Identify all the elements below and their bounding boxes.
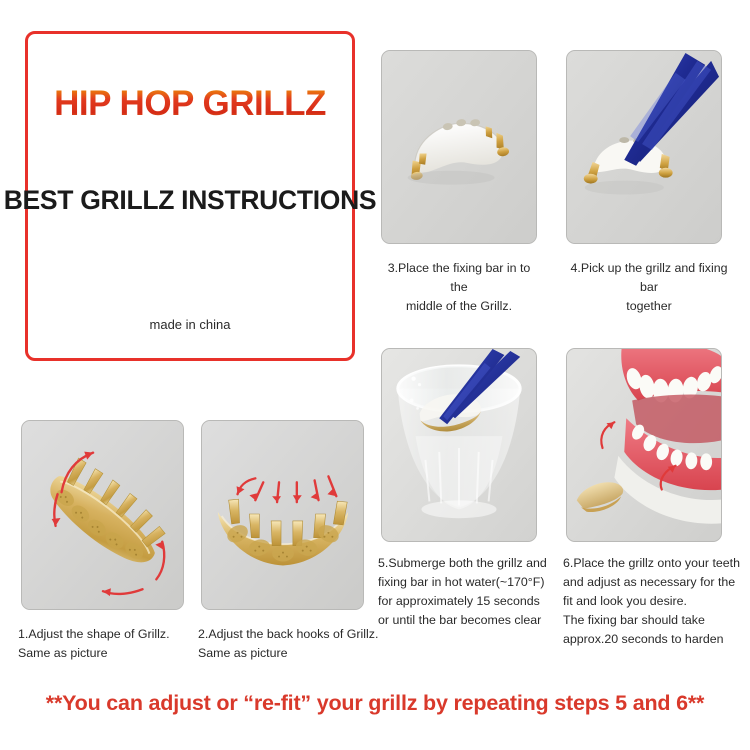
grillz-with-fixing-bar-photo — [382, 51, 536, 243]
footer-note: **You can adjust or “re-fit” your grillz… — [0, 691, 750, 716]
step-5-photo — [381, 348, 537, 542]
title-card: HIP HOP GRILLZ BEST GRILLZ INSTRUCTIONS … — [25, 31, 355, 361]
gold-grillz-shape-adjust-photo — [22, 421, 183, 609]
origin-label: made in china — [150, 317, 231, 332]
gold-grillz-back-hooks-photo — [202, 421, 363, 609]
tweezers-holding-grillz-photo — [567, 51, 721, 243]
step-2-caption: 2.Adjust the back hooks of Grillz. Same … — [198, 625, 388, 663]
step-6-caption: 6.Place the grillz onto your teeth and a… — [563, 554, 741, 649]
grillz-and-teeth-model-photo — [567, 349, 721, 541]
step-3-caption: 3.Place the fixing bar in to the middle … — [378, 259, 540, 316]
page-title: HIP HOP GRILLZ — [54, 84, 326, 124]
step-3-photo — [381, 50, 537, 244]
step-4-photo — [566, 50, 722, 244]
step-1-photo — [21, 420, 184, 610]
step-1-caption: 1.Adjust the shape of Grillz. Same as pi… — [18, 625, 198, 663]
step-6-photo — [566, 348, 722, 542]
page-subtitle: BEST GRILLZ INSTRUCTIONS — [4, 185, 377, 216]
step-4-caption: 4.Pick up the grillz and fixing bar toge… — [561, 259, 737, 316]
step-5-caption: 5.Submerge both the grillz and fixing ba… — [378, 554, 548, 630]
grillz-in-hot-water-cup-photo — [382, 349, 536, 541]
instruction-sheet: HIP HOP GRILLZ BEST GRILLZ INSTRUCTIONS … — [0, 0, 750, 750]
step-2-photo — [201, 420, 364, 610]
